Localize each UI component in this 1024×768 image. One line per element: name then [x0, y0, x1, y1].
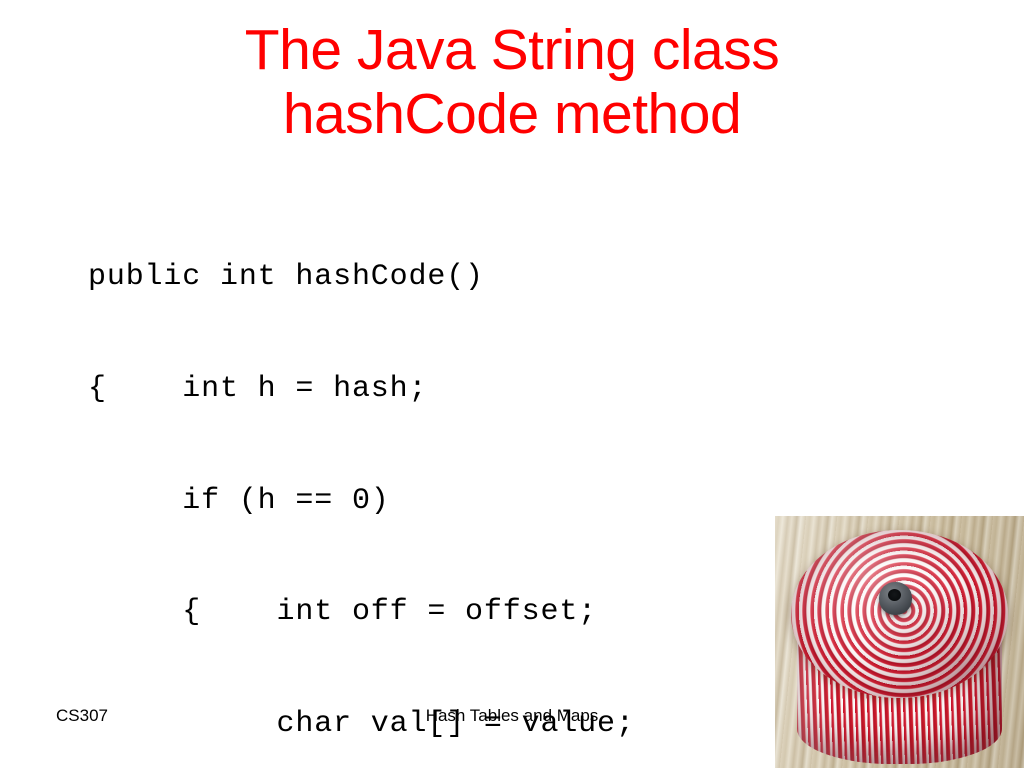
code-line: public int hashCode()	[88, 259, 918, 296]
presentation-slide: The Java String class hashCode method pu…	[0, 0, 1024, 768]
page-title: The Java String class hashCode method	[0, 18, 1024, 146]
code-line: if (h == 0)	[88, 483, 918, 520]
twine-spool-photo	[775, 516, 1024, 768]
spool-hub-hole	[888, 589, 901, 601]
code-line: { int h = hash;	[88, 371, 918, 408]
